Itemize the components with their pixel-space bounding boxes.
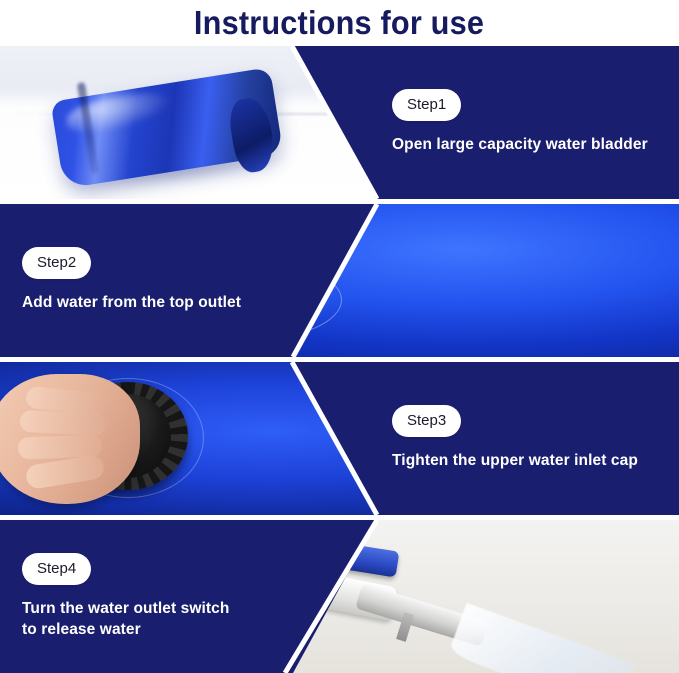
title-bar: Instructions for use xyxy=(0,0,679,46)
instructions-page: Instructions for use Step1 xyxy=(0,0,679,671)
step-row-3: Step3 Tighten the upper water inlet cap xyxy=(0,362,679,515)
step-row-1: Step1 Open large capacity water bladder xyxy=(0,46,679,199)
step-description-1: Open large capacity water bladder xyxy=(392,135,661,156)
step-description-4: Turn the water outlet switch to release … xyxy=(22,599,280,641)
step-panel-content-4: Step4 Turn the water outlet switch to re… xyxy=(22,520,280,673)
hand-icon xyxy=(0,374,140,504)
step-description-line1: Add water from the top outlet xyxy=(22,294,241,311)
steps-list: Step1 Open large capacity water bladder xyxy=(0,46,679,673)
step-row-4: Step4 Turn the water outlet switch to re… xyxy=(0,520,679,673)
step-description-line1: Tighten the upper water inlet cap xyxy=(392,452,638,469)
finger-thumb xyxy=(25,454,106,490)
step-description-2: Add water from the top outlet xyxy=(22,293,280,314)
step-badge-3: Step3 xyxy=(392,405,461,437)
step-description-3: Tighten the upper water inlet cap xyxy=(392,451,661,472)
step-description-line2: to release water xyxy=(22,620,280,641)
finger-middle xyxy=(19,410,106,436)
page-title: Instructions for use xyxy=(194,4,484,42)
step-panel-content-2: Step2 Add water from the top outlet xyxy=(22,204,280,357)
step-badge-4: Step4 xyxy=(22,553,91,585)
step-description-line1: Open large capacity water bladder xyxy=(392,136,648,153)
step-panel-content-1: Step1 Open large capacity water bladder xyxy=(392,46,661,199)
step-row-2: Step2 Add water from the top outlet xyxy=(0,204,679,357)
step-panel-content-3: Step3 Tighten the upper water inlet cap xyxy=(392,362,661,515)
step-badge-1: Step1 xyxy=(392,89,461,121)
step-badge-2: Step2 xyxy=(22,247,91,279)
step-description-line1: Turn the water outlet switch xyxy=(22,600,229,617)
